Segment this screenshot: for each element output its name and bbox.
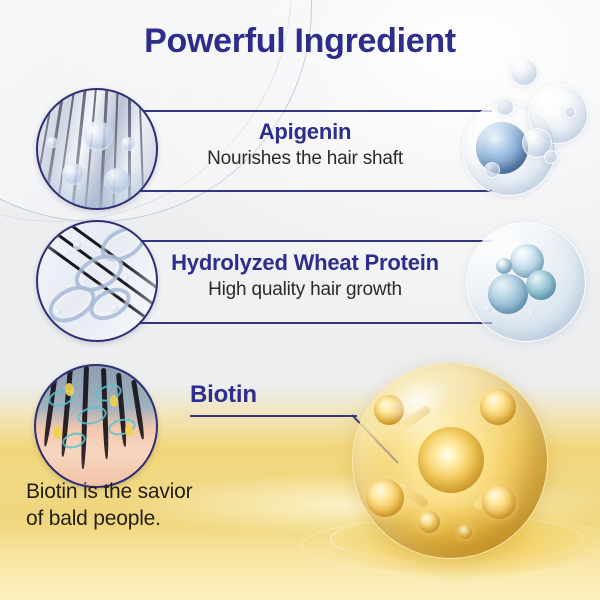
molecule-sphere-art <box>466 222 594 344</box>
ingredient-desc-wheat-protein: High quality hair growth <box>150 277 460 303</box>
ingredient-infographic-poster: Powerful Ingredient <box>0 0 600 600</box>
thumb-art <box>38 222 156 340</box>
thumb-hair-strand-coils <box>36 220 158 342</box>
page-title: Powerful Ingredient <box>0 22 600 61</box>
ingredient-name-wheat-protein: Hydrolyzed Wheat Protein <box>150 248 460 277</box>
golden-oil-sphere-art <box>330 355 600 600</box>
wheat-protein-text-block: Hydrolyzed Wheat Protein High quality ha… <box>150 248 460 303</box>
biotin-description-line2: of bald people. <box>26 505 192 532</box>
ingredient-name-biotin: Biotin <box>190 380 257 410</box>
thumb-scalp-follicles <box>34 364 158 488</box>
biotin-description: Biotin is the savior of bald people. <box>26 478 192 532</box>
biotin-description-line1: Biotin is the savior <box>26 478 192 505</box>
ingredient-desc-apigenin: Nourishes the hair shaft <box>170 146 440 172</box>
ingredient-name-apigenin: Apigenin <box>170 118 440 146</box>
thumb-art <box>36 366 156 486</box>
water-bubble-cluster-art <box>470 58 600 208</box>
apigenin-text-block: Apigenin Nourishes the hair shaft <box>170 118 440 172</box>
thumb-hair-shaft-strands <box>36 88 158 210</box>
thumb-art <box>38 90 156 208</box>
